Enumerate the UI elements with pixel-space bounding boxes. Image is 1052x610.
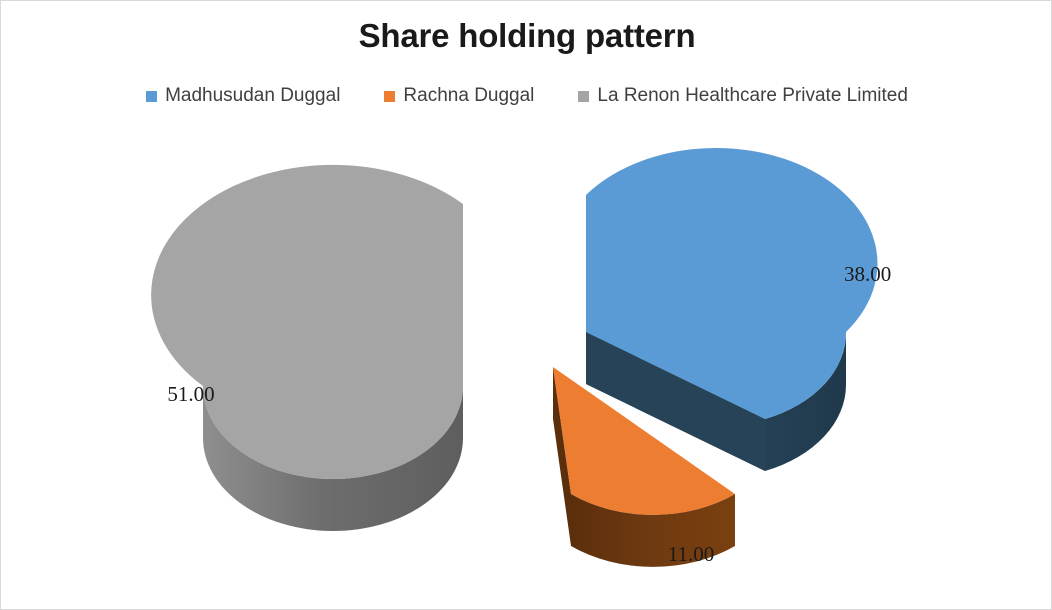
data-label-la-renon-healthcare-private-limited: 51.00 bbox=[167, 382, 214, 406]
pie-slice-la-renon-healthcare-private-limited[interactable] bbox=[151, 165, 463, 531]
data-label-madhusudan-duggal: 38.00 bbox=[844, 262, 891, 286]
pie-chart-graphic: 38.00 51.00 11.00 bbox=[1, 1, 1052, 610]
chart-canvas: Share holding pattern Madhusudan Duggal … bbox=[0, 0, 1052, 610]
data-label-rachna-duggal: 11.00 bbox=[668, 542, 714, 566]
pie-slice-gray-top bbox=[151, 165, 463, 479]
